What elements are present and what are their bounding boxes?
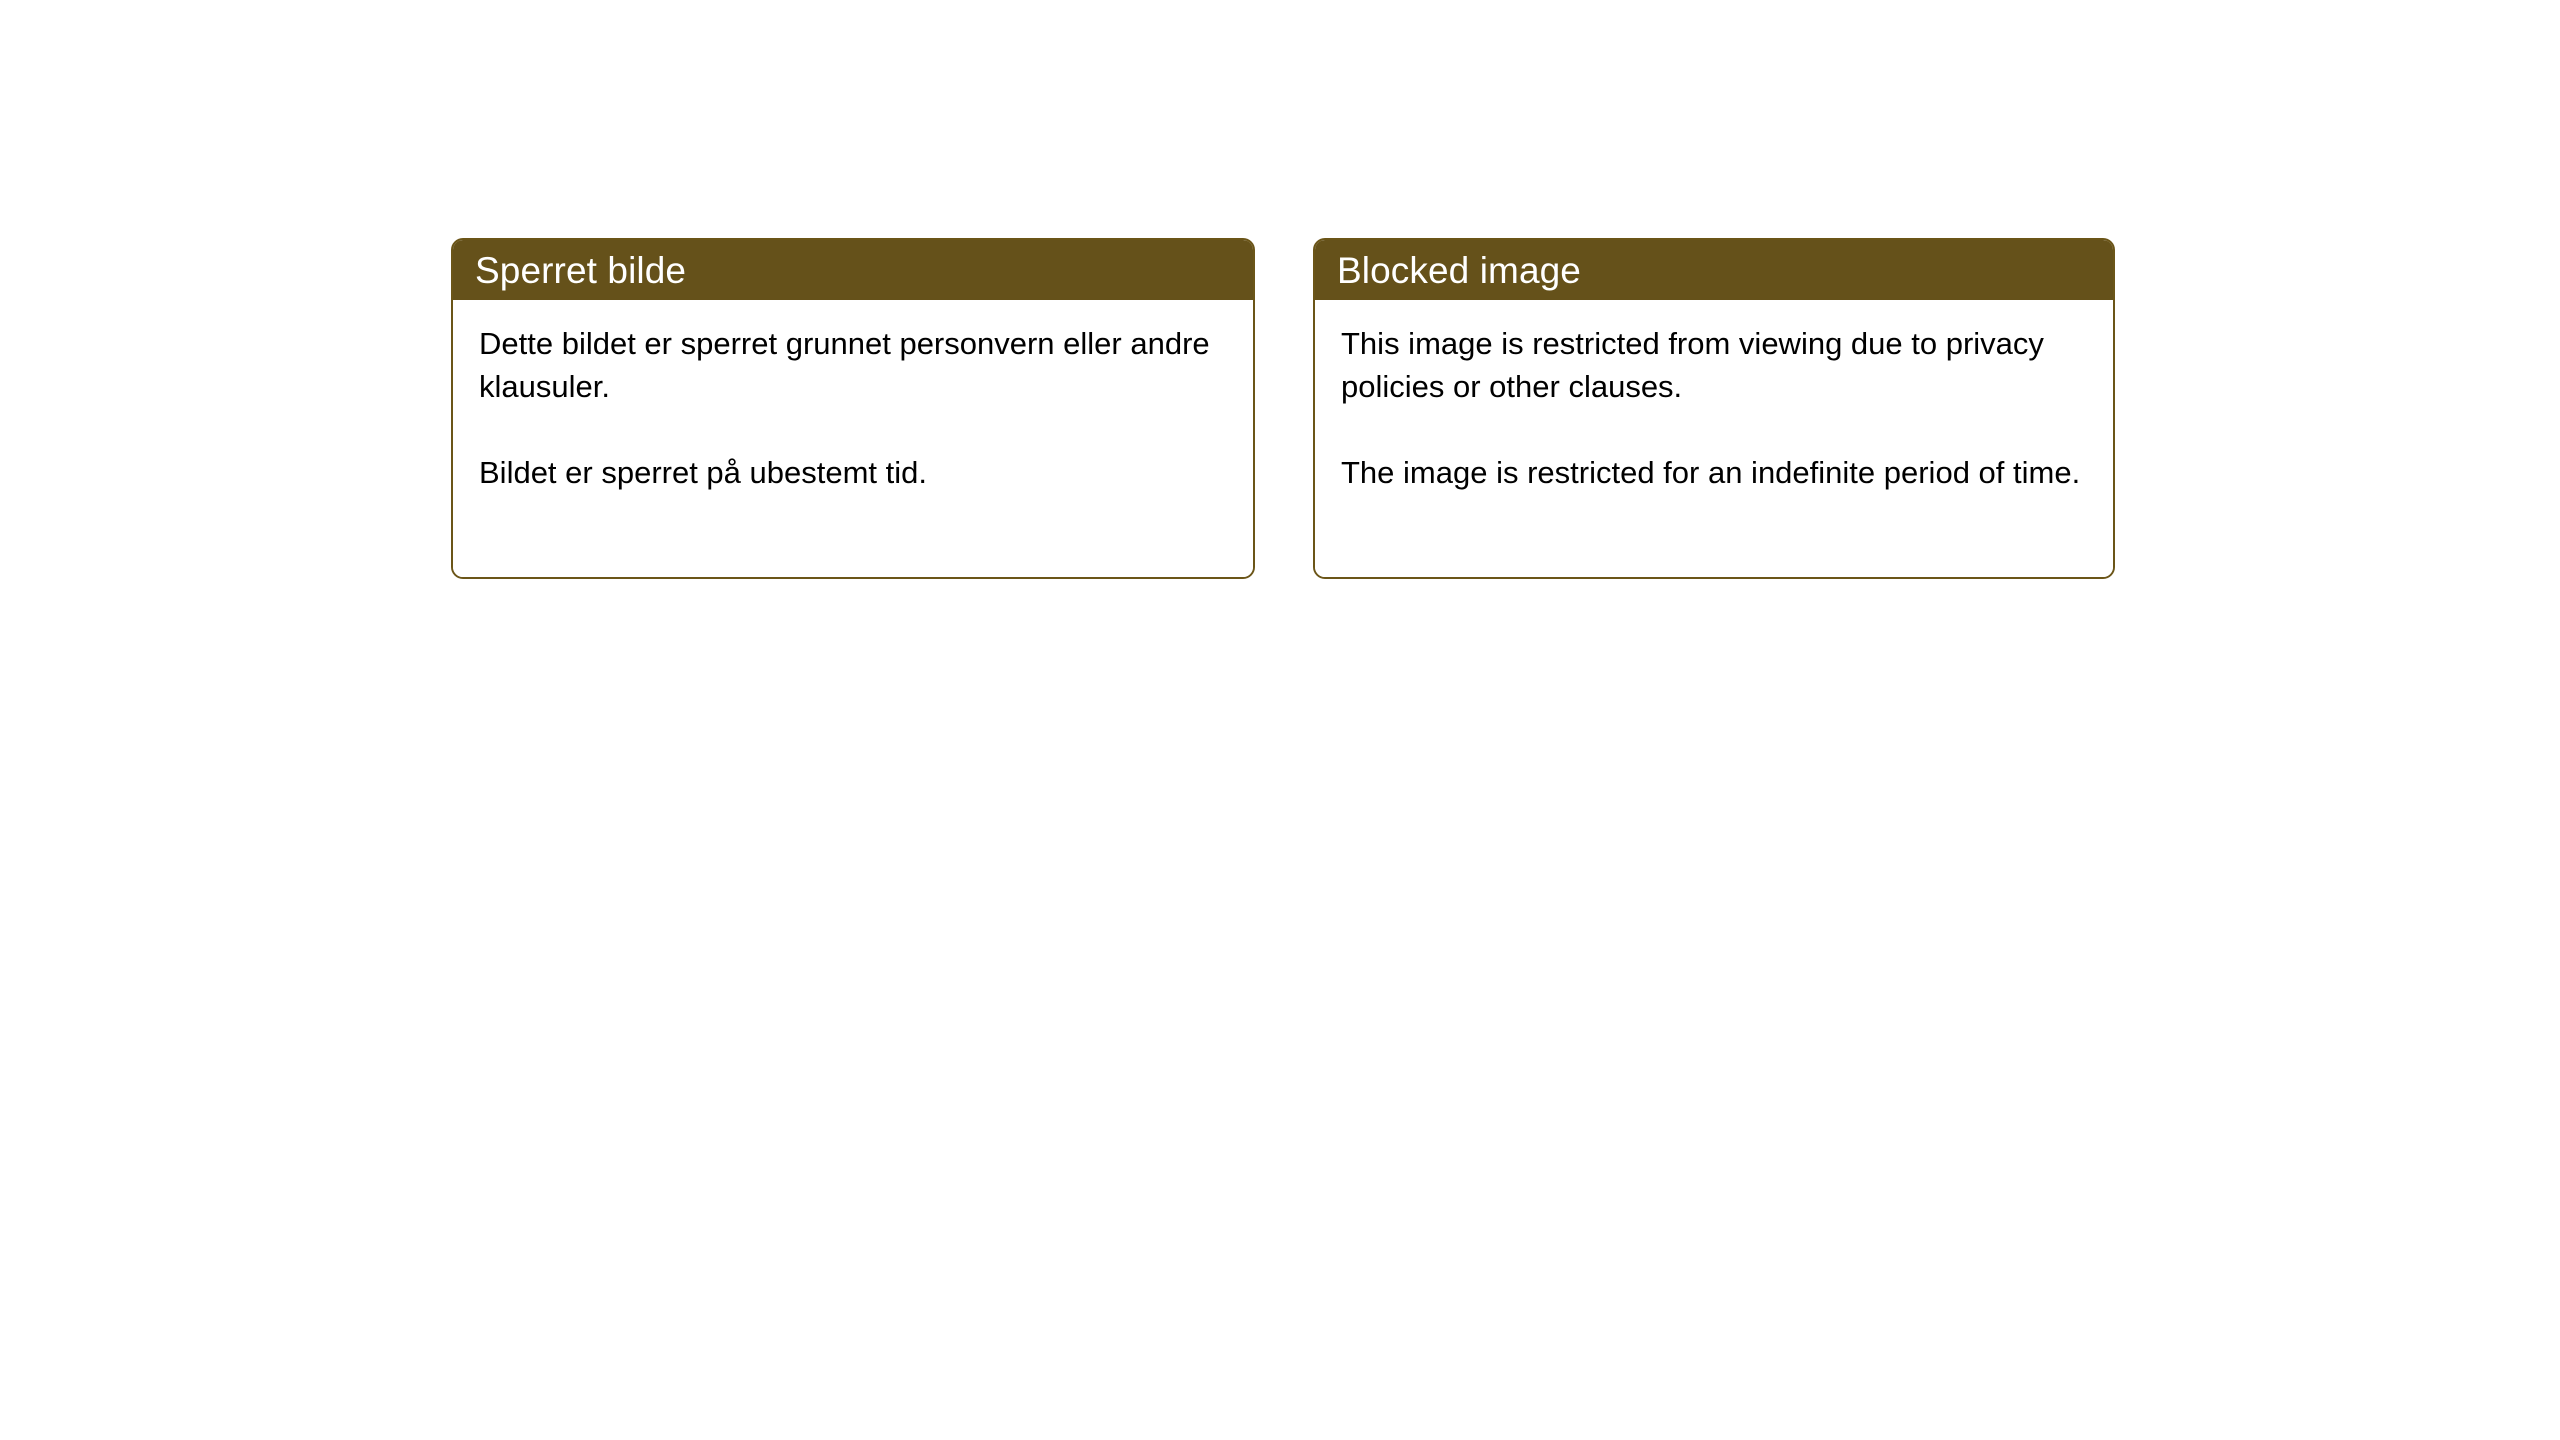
card-body-norwegian: Dette bildet er sperret grunnet personve… [453,300,1253,577]
blocked-image-notice-card-norwegian: Sperret bilde Dette bildet er sperret gr… [451,238,1255,579]
card-title-english: Blocked image [1337,252,1581,289]
card-paragraph-reason-norwegian: Dette bildet er sperret grunnet personve… [479,322,1227,408]
card-header-english: Blocked image [1315,240,2113,300]
card-paragraph-reason-english: This image is restricted from viewing du… [1341,322,2087,408]
card-paragraph-duration-norwegian: Bildet er sperret på ubestemt tid. [479,451,1227,494]
card-title-norwegian: Sperret bilde [475,252,686,289]
card-body-english: This image is restricted from viewing du… [1315,300,2113,577]
card-paragraph-duration-english: The image is restricted for an indefinit… [1341,451,2087,494]
page-canvas: Sperret bilde Dette bildet er sperret gr… [0,0,2560,1440]
blocked-image-notice-card-english: Blocked image This image is restricted f… [1313,238,2115,579]
card-header-norwegian: Sperret bilde [453,240,1253,300]
